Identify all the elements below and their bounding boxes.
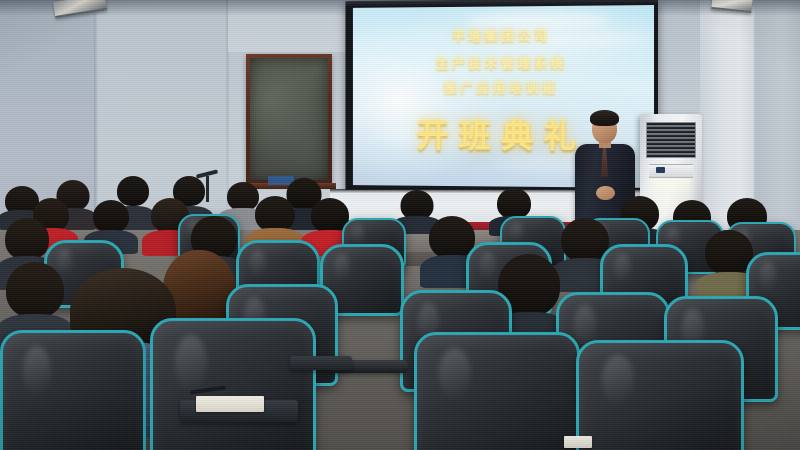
slide-company-name: 平塔集团公司 (353, 25, 654, 46)
head (255, 196, 295, 232)
presenter-hair (590, 110, 619, 126)
slide-subtitle-line-1: 生产技术管理系统 (353, 53, 654, 73)
slide-subtitle-line-2: 推广应用培训班 (353, 78, 654, 97)
air-conditioner-display (656, 167, 665, 173)
head (93, 200, 129, 233)
presenter-hands (596, 186, 615, 200)
head (6, 262, 64, 318)
notepad (196, 396, 264, 412)
blackboard (246, 54, 332, 184)
blackboard-surface (250, 58, 328, 180)
head (497, 188, 531, 219)
auditorium-seat (576, 340, 744, 450)
seat-writing-tablet (290, 356, 352, 370)
head (5, 218, 49, 260)
notepad (564, 436, 592, 448)
lecture-hall-photo: 平塔集团公司 生产技术管理系统 推广应用培训班 开班典礼 (0, 0, 800, 450)
auditorium-seat (414, 332, 580, 450)
air-conditioner-grille-icon (646, 122, 696, 158)
auditorium-seat (150, 318, 316, 450)
auditorium-seat (0, 330, 146, 450)
